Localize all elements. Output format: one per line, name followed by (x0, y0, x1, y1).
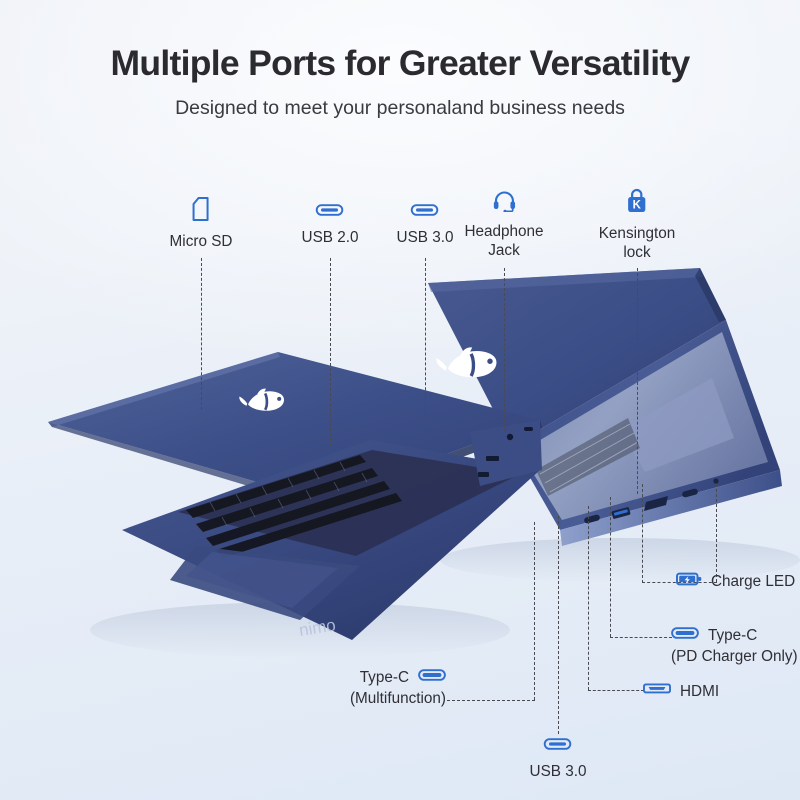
callout-label: Type-C (708, 626, 757, 645)
usb-port-icon (530, 736, 587, 757)
callout-label: USB 2.0 (302, 228, 359, 247)
leader-usb-20 (330, 258, 331, 446)
port-type-c-front (524, 427, 533, 431)
callout-type-c-multifunction[interactable]: Type-C (Multifunction) (258, 668, 446, 708)
port-headphone-jack (507, 434, 513, 440)
leader-usb-30-bottom (558, 516, 559, 734)
callout-label: Headphone (464, 222, 543, 241)
headset-icon (464, 190, 543, 217)
callout-label: Charge LED (711, 572, 795, 591)
usb-port-icon (397, 202, 454, 223)
leader-charge-led-v2 (642, 484, 643, 583)
leader-type-c-pd-h (610, 637, 672, 638)
battery-charge-icon (676, 571, 702, 592)
callout-type-c-pd[interactable]: Type-C (PD Charger Only) (671, 626, 798, 666)
leader-headphone-jack (504, 268, 505, 432)
callout-headphone-jack[interactable]: Headphone Jack (464, 190, 543, 260)
callout-label-2: Jack (464, 241, 543, 260)
leader-usb-30-top (425, 258, 426, 430)
microsd-icon (170, 196, 233, 227)
callout-label-2: (PD Charger Only) (671, 647, 798, 666)
leader-type-c-multi-h (447, 700, 535, 701)
callout-label: Type-C (360, 668, 409, 687)
charge-led-indicator (713, 478, 718, 483)
hdmi-port-icon (643, 681, 671, 701)
callout-label-2: (Multifunction) (258, 689, 446, 708)
usb-port-icon (302, 202, 359, 223)
padlock-k-icon: K (599, 188, 676, 219)
svg-text:K: K (633, 199, 642, 211)
leader-type-c-multi-v (534, 522, 535, 700)
callout-label: USB 3.0 (530, 762, 587, 781)
leader-charge-led-v (716, 484, 717, 582)
callout-label: Kensington (599, 224, 676, 243)
port-microsd-front (478, 472, 489, 477)
callout-usb-30-top[interactable]: USB 3.0 (397, 202, 454, 247)
laptop-front: nimo (48, 352, 542, 640)
callout-hdmi[interactable]: HDMI (643, 681, 719, 701)
callout-label-2: lock (599, 243, 676, 262)
leader-hdmi-h (588, 690, 644, 691)
callout-kensington-lock[interactable]: K Kensington lock (599, 188, 676, 262)
callout-usb-30-bottom[interactable]: USB 3.0 (530, 736, 587, 781)
product-feature-graphic: Multiple Ports for Greater Versatility D… (0, 0, 800, 800)
type-c-icon (671, 626, 699, 645)
callout-charge-led[interactable]: Charge LED (676, 571, 795, 592)
leader-kensington-lock (637, 268, 638, 494)
callout-label: HDMI (680, 682, 719, 701)
type-c-icon (418, 668, 446, 687)
port-usb-front (486, 456, 499, 461)
leader-micro-sd (201, 258, 202, 410)
leader-type-c-pd-v (610, 497, 611, 637)
callout-micro-sd[interactable]: Micro SD (170, 196, 233, 251)
callout-label: USB 3.0 (397, 228, 454, 247)
leader-hdmi-v (588, 506, 589, 690)
callout-label: Micro SD (170, 232, 233, 251)
callout-usb-20[interactable]: USB 2.0 (302, 202, 359, 247)
